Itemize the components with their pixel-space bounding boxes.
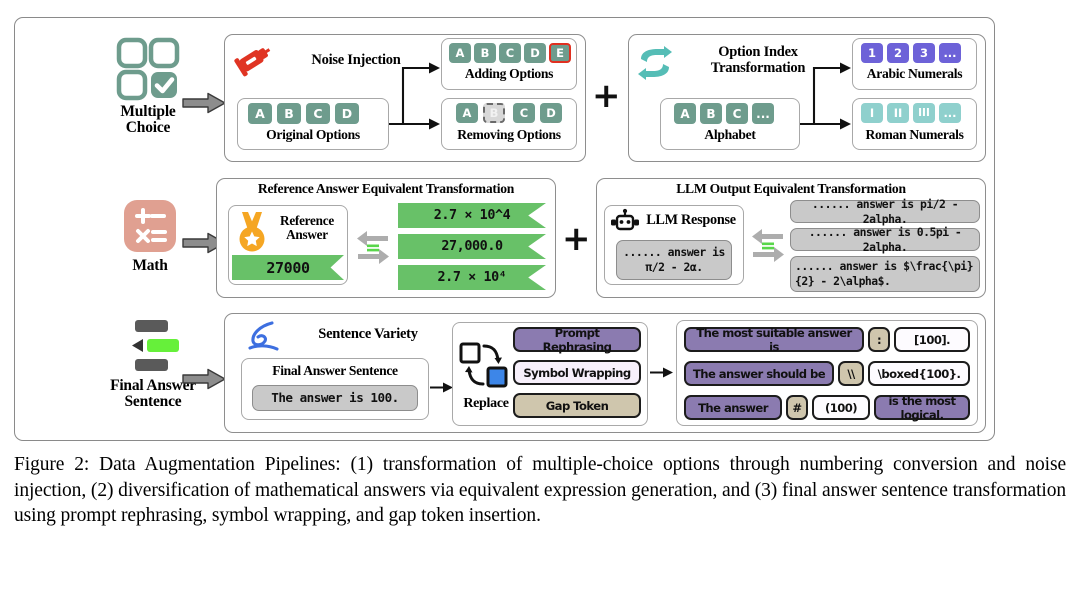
replace-squares-icon bbox=[459, 342, 511, 390]
equivalent-expression: 2.7 × 10⁴ bbox=[398, 265, 546, 290]
output-tail-phrase: is the most logical. bbox=[874, 395, 970, 420]
robot-icon bbox=[610, 209, 640, 235]
sentence-to-replace-arrow bbox=[430, 381, 454, 395]
alphabet-tile: B bbox=[700, 103, 722, 124]
original-options-caption: Original Options bbox=[237, 127, 389, 143]
output-phrase: The most suitable answer is bbox=[684, 327, 864, 352]
math-operators-icon bbox=[124, 200, 176, 252]
llm-response-line2: π/2 - 2α. bbox=[645, 260, 702, 275]
adding-option-tile: A bbox=[449, 43, 471, 63]
output-gap-token: : bbox=[868, 327, 890, 352]
mc-plus-sign: + bbox=[592, 79, 621, 113]
replace-option-symbol-wrapping[interactable]: Symbol Wrapping bbox=[513, 360, 641, 385]
adding-option-tile-new: E bbox=[549, 43, 571, 63]
llm-response-label: LLM Response bbox=[641, 213, 741, 228]
syringe-icon bbox=[233, 44, 273, 78]
replace-option-prompt-rephrasing[interactable]: Prompt Rephrasing bbox=[513, 327, 641, 352]
arabic-numeral-tile-ellipsis: ... bbox=[939, 43, 961, 63]
adding-option-tile: B bbox=[474, 43, 496, 63]
pen-flourish-icon bbox=[246, 320, 282, 354]
mc-arrow bbox=[182, 92, 226, 114]
alphabet-caption: Alphabet bbox=[660, 127, 800, 143]
output-wrapped-answer: [100]. bbox=[894, 327, 970, 352]
output-phrase: The answer should be bbox=[684, 361, 834, 386]
llm-response-text: ...... answer is π/2 - 2α. bbox=[616, 240, 732, 280]
llm-variant: ...... answer is 0.5pi - 2alpha. bbox=[790, 228, 980, 251]
output-wrapped-answer: \boxed{100}. bbox=[868, 361, 970, 386]
arabic-numeral-tile: 2 bbox=[887, 43, 909, 63]
llm-variant: ...... answer is $\frac{\pi}{2} - 2\alph… bbox=[790, 256, 980, 292]
adding-option-tile: C bbox=[499, 43, 521, 63]
output-gap-token: # bbox=[786, 395, 808, 420]
roman-numerals-caption: Roman Numerals bbox=[852, 127, 977, 143]
badge-line1: Reference bbox=[272, 214, 342, 228]
original-option-tile: A bbox=[248, 103, 272, 124]
mc-grid-icon bbox=[117, 38, 179, 100]
reference-answer-badge-label: Reference Answer bbox=[272, 214, 342, 243]
final-answer-sentence-caption: Final Answer Sentence bbox=[241, 363, 429, 379]
adding-option-tile: D bbox=[524, 43, 546, 63]
equivalence-swap-icon-ref bbox=[355, 228, 391, 268]
removing-option-tile: D bbox=[540, 103, 562, 123]
fa-label-line2: Sentence bbox=[88, 394, 218, 410]
original-option-tile: B bbox=[277, 103, 301, 124]
replace-option-gap-token[interactable]: Gap Token bbox=[513, 393, 641, 418]
final-answer-arrow bbox=[182, 368, 226, 390]
final-answer-sentence-text: The answer is 100. bbox=[252, 385, 418, 411]
arabic-numeral-tile: 1 bbox=[861, 43, 883, 63]
sentence-variety-title: Sentence Variety bbox=[288, 327, 448, 343]
equivalence-swap-icon-llm bbox=[750, 226, 786, 266]
roman-numeral-tile: I bbox=[861, 103, 883, 123]
option-index-connector bbox=[800, 56, 852, 132]
badge-line2: Answer bbox=[272, 228, 342, 242]
math-plus-sign: + bbox=[562, 222, 591, 256]
roman-numeral-tile-ellipsis: ... bbox=[939, 103, 961, 123]
llm-variant: ...... answer is pi/2 - 2alpha. bbox=[790, 200, 980, 223]
llm-response-line1: ...... answer is bbox=[623, 245, 725, 260]
equivalent-expression: 2.7 × 10^4 bbox=[398, 203, 546, 228]
output-wrapped-answer: (100) bbox=[812, 395, 870, 420]
reference-answer-value: 27000 bbox=[232, 255, 344, 280]
original-option-tile: C bbox=[306, 103, 330, 124]
noise-branch-connector bbox=[389, 56, 441, 132]
replace-label: Replace bbox=[455, 396, 517, 412]
arabic-numerals-caption: Arabic Numerals bbox=[852, 66, 977, 82]
output-gap-token: \\ bbox=[838, 361, 864, 386]
roman-numeral-tile: II bbox=[887, 103, 909, 123]
alphabet-tile: A bbox=[674, 103, 696, 124]
removing-options-caption: Removing Options bbox=[441, 127, 577, 143]
removing-option-tile: C bbox=[513, 103, 535, 123]
swap-arrows-icon bbox=[637, 46, 673, 80]
highlighted-line-icon bbox=[127, 320, 183, 374]
arabic-numeral-tile: 3 bbox=[913, 43, 935, 63]
reference-answer-title: Reference Answer Equivalent Transformati… bbox=[216, 182, 556, 197]
removing-option-tile: A bbox=[456, 103, 478, 123]
figure-container: Multiple Choice Noise Injection A B C D … bbox=[0, 0, 1080, 599]
row-label-math: Math bbox=[100, 258, 200, 274]
mc-label-line2: Choice bbox=[96, 120, 200, 136]
adding-options-caption: Adding Options bbox=[441, 66, 577, 82]
removing-option-tile-removed: B bbox=[483, 103, 505, 123]
replace-to-output-arrow bbox=[650, 366, 674, 380]
figure-caption: Figure 2: Data Augmentation Pipelines: (… bbox=[14, 452, 1066, 529]
llm-output-title: LLM Output Equivalent Transformation bbox=[596, 182, 986, 197]
alphabet-tile: C bbox=[726, 103, 748, 124]
original-option-tile: D bbox=[335, 103, 359, 124]
roman-numeral-tile: III bbox=[913, 103, 935, 123]
output-phrase: The answer bbox=[684, 395, 782, 420]
alphabet-tile-ellipsis: ... bbox=[752, 103, 774, 124]
medal-icon bbox=[236, 211, 268, 253]
equivalent-expression: 27,000.0 bbox=[398, 234, 546, 259]
